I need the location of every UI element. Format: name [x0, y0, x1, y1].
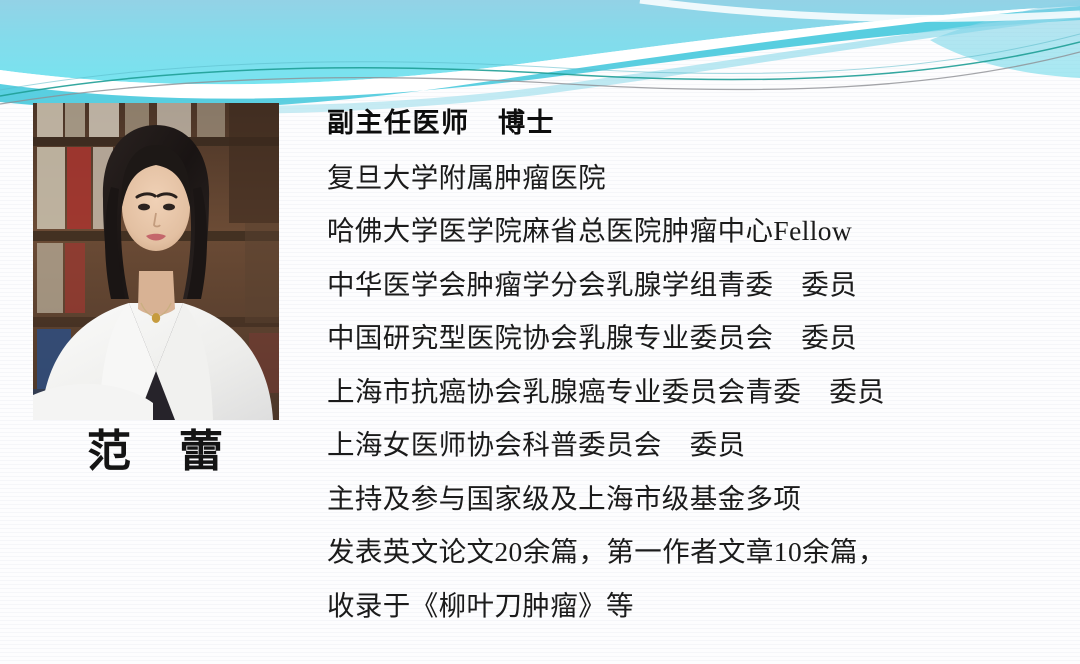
credential-line-8: 发表英文论文20余篇，第一作者文章10余篇，: [327, 525, 1057, 579]
slide-canvas: 范 蕾 副主任医师 博士 复旦大学附属肿瘤医院 哈佛大学医学院麻省总医院肿瘤中心…: [0, 0, 1080, 664]
credential-line-1: 复旦大学附属肿瘤医院: [327, 151, 1057, 205]
doctor-portrait-photo: [33, 103, 279, 420]
credential-line-5: 上海市抗癌协会乳腺癌专业委员会青委 委员: [327, 365, 1057, 419]
credential-line-7: 主持及参与国家级及上海市级基金多项: [327, 472, 1057, 526]
credential-line-6: 上海女医师协会科普委员会 委员: [327, 418, 1057, 472]
credential-line-4: 中国研究型医院协会乳腺专业委员会 委员: [327, 311, 1057, 365]
credentials-block: 副主任医师 博士 复旦大学附属肿瘤医院 哈佛大学医学院麻省总医院肿瘤中心Fell…: [327, 97, 1057, 632]
credential-line-9: 收录于《柳叶刀肿瘤》等: [327, 579, 1057, 633]
credentials-heading: 副主任医师 博士: [327, 97, 1057, 151]
credential-line-2: 哈佛大学医学院麻省总医院肿瘤中心Fellow: [327, 204, 1057, 258]
credential-line-3: 中华医学会肿瘤学分会乳腺学组青委 委员: [327, 258, 1057, 312]
doctor-name: 范 蕾: [33, 428, 279, 476]
